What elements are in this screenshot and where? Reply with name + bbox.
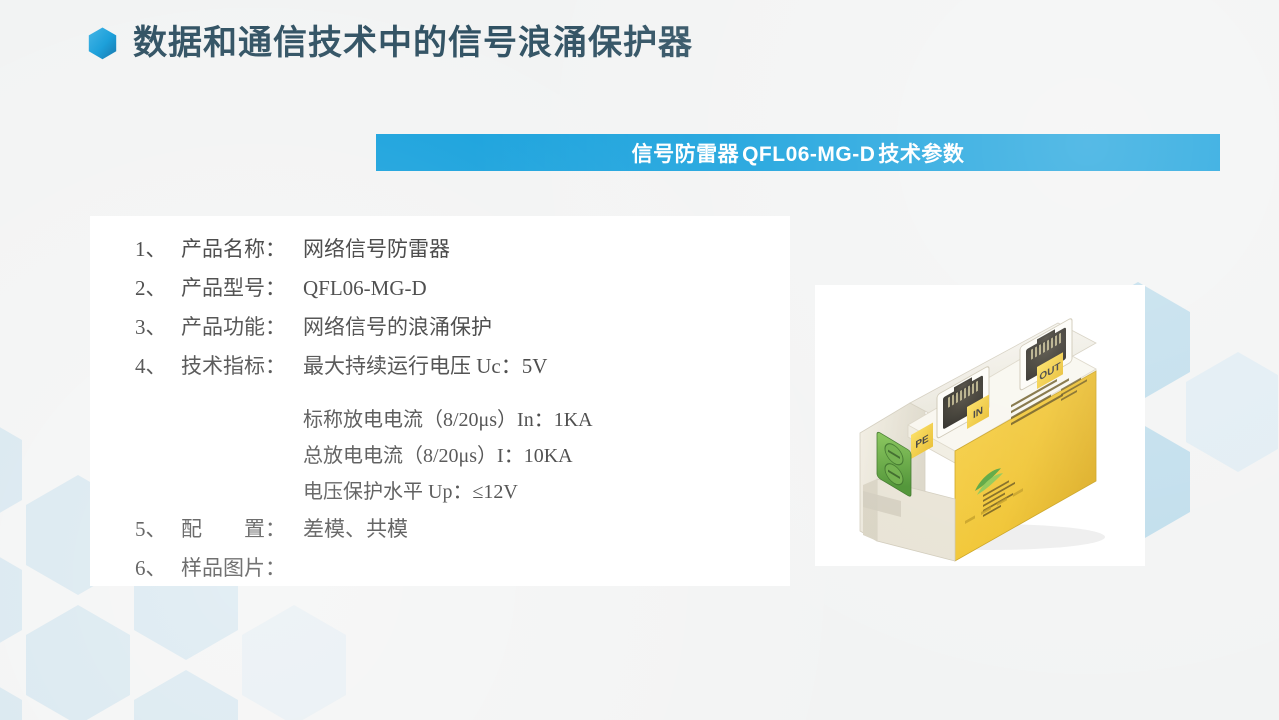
spec-item: 5、配 置：差模、共模 (135, 510, 780, 549)
spec-item-number: 2、 (135, 269, 181, 308)
spec-item-label: 技术指标： (181, 347, 303, 386)
spec-item-number: 6、 (135, 549, 181, 588)
spec-item: 3、产品功能：网络信号的浪涌保护 (135, 308, 780, 347)
spec-item-label: 配 置： (181, 510, 303, 549)
product-photo-image: OUT IN PE (815, 285, 1145, 566)
spacer (135, 386, 780, 402)
spec-item-value: 网络信号防雷器 (303, 237, 450, 261)
spec-item: 1、产品名称：网络信号防雷器 (135, 230, 780, 269)
page-title-text: 数据和通信技术中的信号浪涌保护器 (133, 26, 693, 60)
specification-panel: 1、产品名称：网络信号防雷器 2、产品型号：QFL06-MG-D 3、产品功能：… (90, 216, 790, 586)
spec-sub-item: 标称放电电流（8/20μs）In：1KA (135, 402, 780, 438)
spec-item-number: 3、 (135, 308, 181, 347)
spec-sub-item: 总放电电流（8/20μs）I：10KA (135, 438, 780, 474)
spec-item-label: 样品图片： (181, 549, 303, 588)
spec-item-value: QFL06-MG-D (303, 276, 427, 300)
spec-item-value: 网络信号的浪涌保护 (303, 315, 492, 339)
section-banner: 信号防雷器QFL06-MG-D技术参数 (376, 134, 1220, 171)
spec-item-label: 产品功能： (181, 308, 303, 347)
banner-model: QFL06-MG-D (739, 143, 878, 166)
spec-item: 4、技术指标：最大持续运行电压 Uc：5V (135, 347, 780, 386)
spec-item-number: 1、 (135, 230, 181, 269)
page-title: 数据和通信技术中的信号浪涌保护器 (88, 26, 693, 60)
specification-list: 1、产品名称：网络信号防雷器 2、产品型号：QFL06-MG-D 3、产品功能：… (135, 230, 780, 588)
spec-item: 6、样品图片： (135, 549, 780, 588)
product-photo-panel: OUT IN PE (815, 285, 1145, 566)
spec-item-value: 差模、共模 (303, 517, 408, 541)
spec-item-number: 4、 (135, 347, 181, 386)
hexagon-accent-right (1128, 262, 1278, 572)
spec-item-label: 产品型号： (181, 269, 303, 308)
spec-item-number: 5、 (135, 510, 181, 549)
banner-prefix: 信号防雷器 (632, 143, 740, 166)
slide-canvas: 数据和通信技术中的信号浪涌保护器 信号防雷器QFL06-MG-D技术参数 1、产… (0, 0, 1279, 720)
spec-item-label: 产品名称： (181, 230, 303, 269)
spec-item: 2、产品型号：QFL06-MG-D (135, 269, 780, 308)
spec-item-value: 最大持续运行电压 Uc：5V (303, 354, 547, 378)
hexagon-bullet-icon (88, 27, 117, 60)
spec-sub-item: 电压保护水平 Up：≤12V (135, 474, 780, 510)
section-banner-text: 信号防雷器QFL06-MG-D技术参数 (632, 138, 965, 168)
banner-suffix: 技术参数 (878, 143, 964, 166)
